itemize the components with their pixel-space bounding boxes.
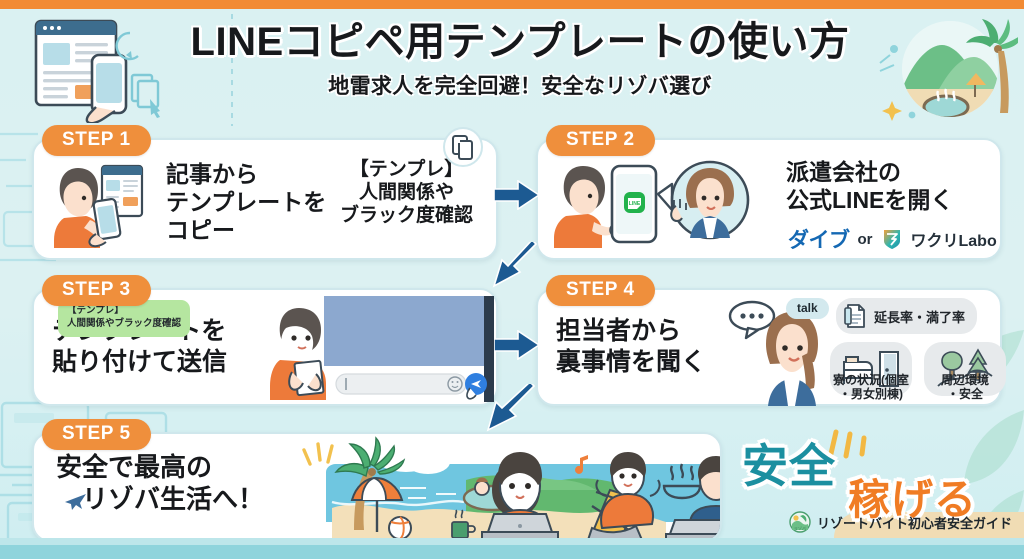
infographic-canvas: LINEコピペ用テンプレートの使い方 地雷求人を完全回避！安全なリゾバ選び [0, 0, 1024, 559]
step-1-template-note: 【テンプレ】 人間関係や ブラック度確認 [340, 158, 473, 228]
arrow-step3-to-step4 [494, 330, 540, 360]
arrow-step4-to-step5 [484, 384, 538, 434]
copy-document-icon[interactable] [442, 126, 484, 168]
resort-onsen-circle-illustration [878, 11, 1018, 129]
arrow-step2-to-step3 [490, 242, 540, 290]
bottom-accent-bar-light [0, 538, 1024, 545]
top-accent-bar [0, 0, 1024, 9]
brand-connector: or [858, 231, 873, 248]
step-2-card[interactable]: LINE 派遣会社の 公式LINEを開く ダイブ or ワクリLabo [536, 138, 1002, 260]
person-reading-article-on-phone [50, 156, 162, 248]
svg-text:LINE: LINE [629, 201, 641, 207]
person-with-line-app-and-agent: LINE [550, 152, 782, 250]
step-2-brands: ダイブ or ワクリLabo [788, 224, 997, 254]
step-1-card[interactable]: 記事から テンプレートを コピー 【テンプレ】 人間関係や ブラック度確認 [32, 138, 498, 260]
page-subtitle: 地雷求人を完全回避！安全なリゾバ選び [150, 70, 890, 100]
airplane-icon [64, 491, 88, 511]
brand-wakuri-label: ワクリLabo [911, 227, 997, 251]
phone-chat-screen[interactable] [324, 296, 494, 402]
step-2-badge: STEP 2 [546, 125, 655, 156]
slogan-safe: 安全 [742, 430, 836, 496]
chip-extension-rate: 延長率・満了率 [836, 298, 977, 334]
talk-bubble-label: talk [786, 298, 829, 319]
resort-guide-logo: リゾバ [789, 511, 811, 533]
step-4-headline: 担当者から 裏事情を聞く [556, 316, 706, 377]
header: LINEコピペ用テンプレートの使い方 地雷求人を完全回避！安全なリゾバ選び [0, 9, 1024, 121]
footer-credit-text: リゾートバイト初心者安全ガイド [817, 513, 1012, 532]
step-3-badge: STEP 3 [42, 275, 151, 306]
step-5-badge: STEP 5 [42, 419, 151, 450]
document-icon [844, 303, 868, 329]
person-holding-phone-chat-screen [270, 300, 344, 400]
chip-environment-label: 周辺環境 ・安全 [910, 373, 1020, 402]
footer-credit: リゾバ リゾートバイト初心者安全ガイド [789, 511, 1012, 533]
title-block: LINEコピペ用テンプレートの使い方 地雷求人を完全回避！安全なリゾバ選び [150, 21, 890, 100]
svg-text:リゾバ: リゾバ [794, 526, 806, 531]
page-title: LINEコピペ用テンプレートの使い方 [150, 21, 890, 63]
beach-resort-workation-scene [296, 436, 720, 540]
step-1-badge: STEP 1 [42, 125, 151, 156]
step-1-headline: 記事から テンプレートを コピー [166, 160, 326, 244]
arrow-step1-to-step2 [494, 180, 540, 210]
step-2-headline: 派遣会社の 公式LINEを開く [786, 158, 953, 214]
wakuri-labo-logo-icon [881, 228, 903, 250]
chip-extension-rate-label: 延長率・満了率 [874, 307, 965, 326]
bottom-accent-bar [0, 545, 1024, 559]
step-4-badge: STEP 4 [546, 275, 655, 306]
brand-dive-label: ダイブ [788, 224, 850, 254]
